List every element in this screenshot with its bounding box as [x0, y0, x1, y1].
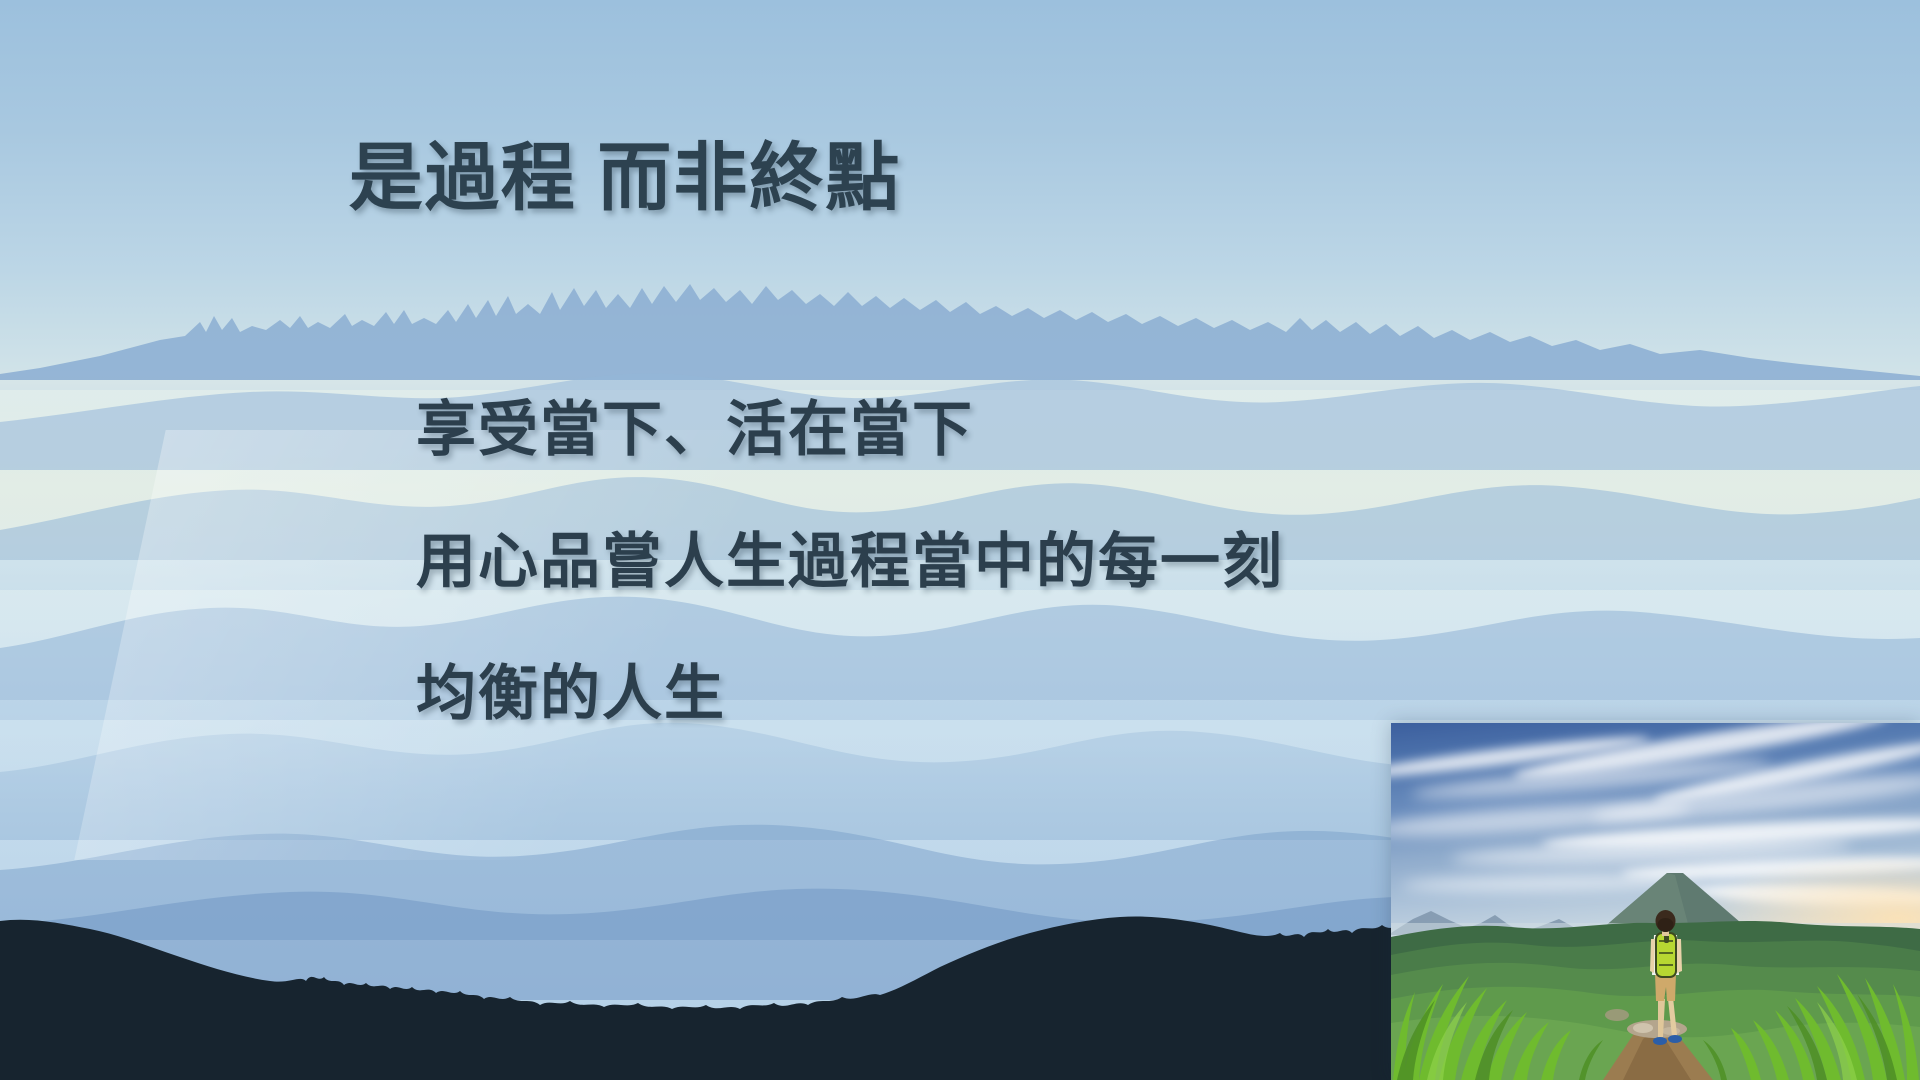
body-line-2: 用心品嘗人生過程當中的每一刻 — [416, 532, 1516, 592]
presentation-slide: 是過程 而非終點 享受當下、活在當下 用心品嘗人生過程當中的每一刻 均衡的人生 — [0, 0, 1920, 1080]
page-title: 是過程 而非終點 — [0, 118, 1250, 225]
body-text-block: 享受當下、活在當下 用心品嘗人生過程當中的每一刻 均衡的人生 — [416, 400, 1516, 724]
body-line-3: 均衡的人生 — [416, 664, 1516, 724]
foreground-grass — [1391, 930, 1920, 1080]
body-line-1: 享受當下、活在當下 — [416, 400, 1516, 460]
hiker-volcano-photo — [1391, 723, 1920, 1080]
